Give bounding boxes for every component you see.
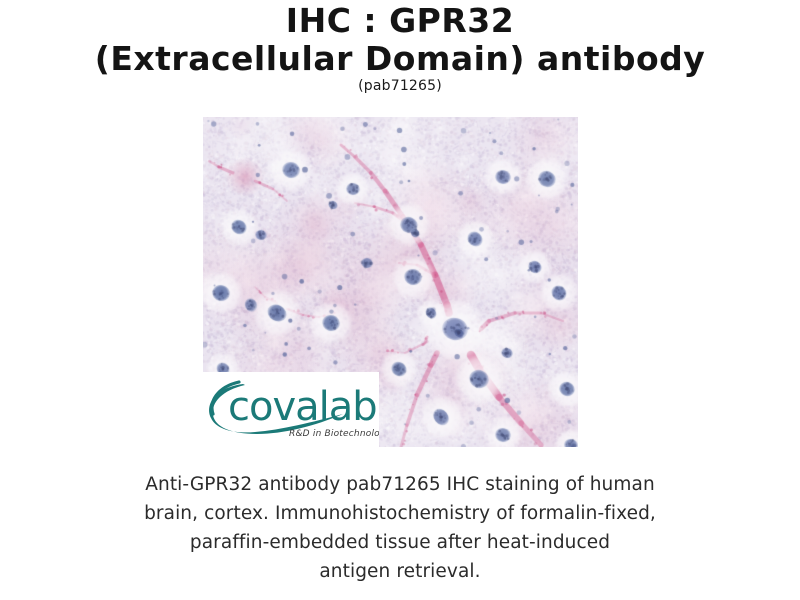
catalog-number: (pab71265): [0, 78, 800, 94]
caption-line-2: brain, cortex. Immunohistochemistry of f…: [0, 499, 800, 528]
caption-line-3: paraffin-embedded tissue after heat-indu…: [0, 528, 800, 557]
covalab-logo-svg: covalab R&D in Biotechnology: [203, 372, 379, 447]
figure-caption: Anti-GPR32 antibody pab71265 IHC stainin…: [0, 470, 800, 586]
page-title-line-1: IHC : GPR32: [0, 4, 800, 39]
title-block: IHC : GPR32 (Extracellular Domain) antib…: [0, 0, 800, 94]
caption-line-1: Anti-GPR32 antibody pab71265 IHC stainin…: [0, 470, 800, 499]
page-title-line-2: (Extracellular Domain) antibody: [0, 42, 800, 77]
logo-tagline: R&D in Biotechnology: [289, 429, 379, 439]
logo-wordmark: covalab: [228, 384, 377, 430]
caption-line-4: antigen retrieval.: [0, 557, 800, 586]
covalab-logo: covalab R&D in Biotechnology: [203, 372, 379, 447]
